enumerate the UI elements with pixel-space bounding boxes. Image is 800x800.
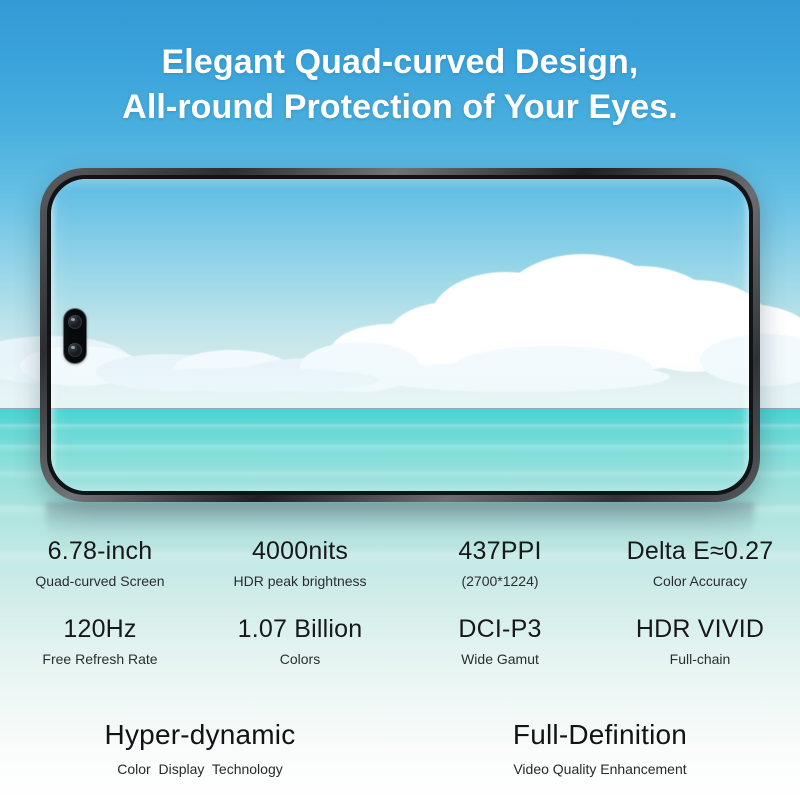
spec-label: Free Refresh Rate [4, 650, 196, 668]
spec-item-gamut: DCI-P3 Wide Gamut [400, 614, 600, 668]
device-screen [51, 179, 749, 491]
spec-item-colors: 1.07 Billion Colors [200, 614, 400, 668]
spec-item-refresh-rate: 120Hz Free Refresh Rate [0, 614, 200, 668]
feature-subtitle: Color Display Technology [0, 760, 400, 778]
spec-item-hdr: HDR VIVID Full-chain [600, 614, 800, 668]
spec-item-ppi: 437PPI (2700*1224) [400, 536, 600, 590]
spec-item-brightness: 4000nits HDR peak brightness [200, 536, 400, 590]
page-headline: Elegant Quad-curved Design, All-round Pr… [0, 40, 800, 130]
feature-full-definition: Full-Definition Video Quality Enhancemen… [400, 718, 800, 778]
feature-title: Hyper-dynamic [0, 718, 400, 752]
feature-subtitle: Video Quality Enhancement [400, 760, 800, 778]
spec-value: Delta E≈0.27 [604, 536, 796, 566]
spec-label: HDR peak brightness [204, 572, 396, 590]
headline-line-2: All-round Protection of Your Eyes. [0, 85, 800, 130]
device-bezel [47, 175, 753, 495]
camera-lens-bottom-icon [68, 343, 82, 357]
feature-title: Full-Definition [400, 718, 800, 752]
spec-value: DCI-P3 [404, 614, 596, 644]
feature-hyper-dynamic: Hyper-dynamic Color Display Technology [0, 718, 400, 778]
spec-label: (2700*1224) [404, 572, 596, 590]
spec-label: Colors [204, 650, 396, 668]
spec-label: Wide Gamut [404, 650, 596, 668]
dual-camera-icon [64, 309, 86, 363]
screen-water-reflections [51, 409, 749, 491]
spec-value: 1.07 Billion [204, 614, 396, 644]
camera-lens-top-icon [68, 315, 82, 329]
feature-row: Hyper-dynamic Color Display Technology F… [0, 718, 800, 778]
spec-value: 4000nits [204, 536, 396, 566]
spec-label: Quad-curved Screen [4, 572, 196, 590]
screen-horizon-haze [51, 360, 749, 410]
spec-value: 120Hz [4, 614, 196, 644]
screen-horizon-line [51, 408, 749, 409]
spec-grid: 6.78-inch Quad-curved Screen 4000nits HD… [0, 536, 800, 668]
screen-wallpaper [51, 179, 749, 491]
smartphone-device [40, 168, 760, 502]
headline-line-1: Elegant Quad-curved Design, [0, 40, 800, 85]
spec-item-screen-size: 6.78-inch Quad-curved Screen [0, 536, 200, 590]
spec-item-color-accuracy: Delta E≈0.27 Color Accuracy [600, 536, 800, 590]
spec-value: 6.78-inch [4, 536, 196, 566]
product-feature-page: Elegant Quad-curved Design, All-round Pr… [0, 0, 800, 800]
spec-value: 437PPI [404, 536, 596, 566]
spec-label: Color Accuracy [604, 572, 796, 590]
spec-label: Full-chain [604, 650, 796, 668]
spec-value: HDR VIVID [604, 614, 796, 644]
